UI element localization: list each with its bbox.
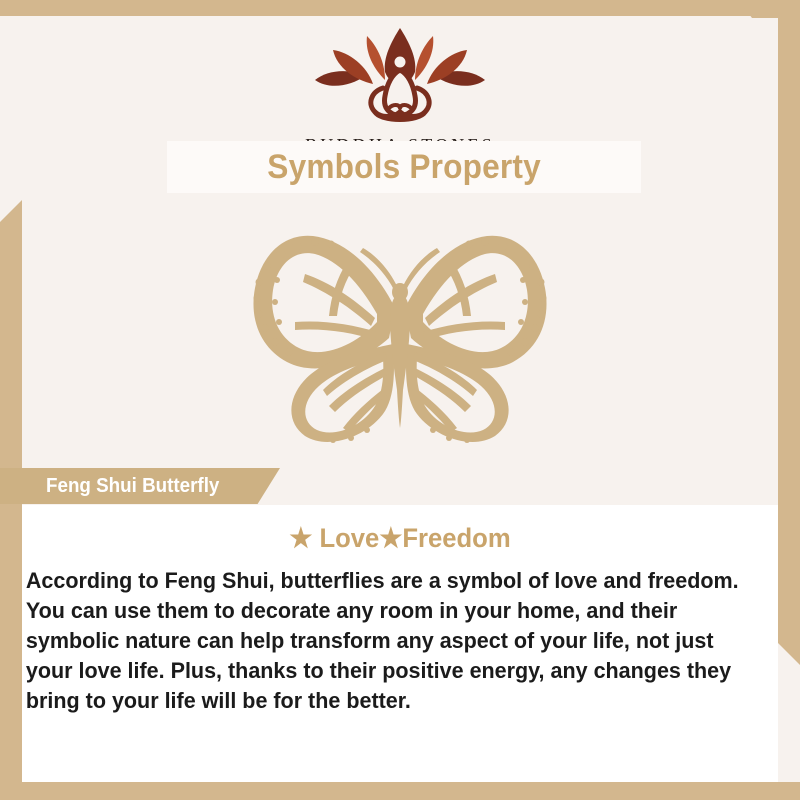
title-band: Symbols Property xyxy=(167,141,641,193)
hero-graphic xyxy=(22,212,778,462)
section-banner: Feng Shui Butterfly xyxy=(0,468,280,504)
content-area: BUDDHA STONES Symbols Property xyxy=(22,16,778,782)
section-banner-label: Feng Shui Butterfly xyxy=(46,475,219,498)
article-body: According to Feng Shui, butterflies are … xyxy=(22,566,755,716)
brand-logo: BUDDHA STONES xyxy=(22,24,778,156)
lotus-meditation-icon xyxy=(22,24,778,133)
article-panel: ★ Love★Freedom According to Feng Shui, b… xyxy=(22,505,778,782)
frame-band-right xyxy=(778,0,800,665)
butterfly-icon xyxy=(225,222,575,452)
frame-band-bottom xyxy=(0,782,800,800)
article-tagline: ★ Love★Freedom xyxy=(41,505,759,554)
frame-band-top xyxy=(0,0,800,16)
page-title: Symbols Property xyxy=(267,148,541,187)
poster-canvas: BUDDHA STONES Symbols Property xyxy=(0,0,800,800)
